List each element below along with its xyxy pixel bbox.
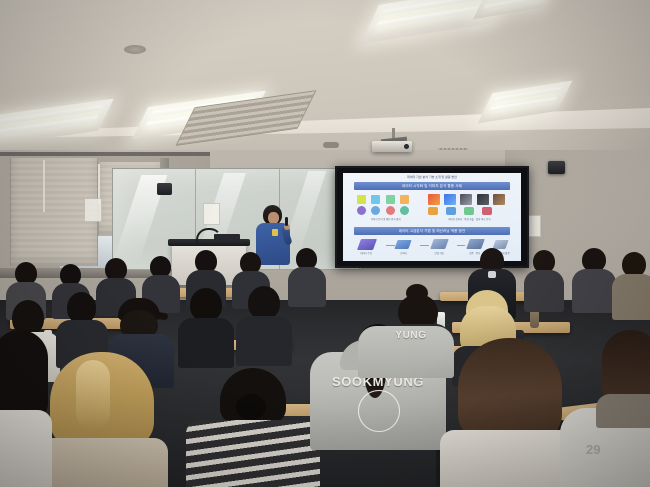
shoulders — [186, 420, 320, 487]
ceiling-projector — [372, 141, 412, 152]
hair-dark — [602, 330, 650, 402]
slide-thumb-8 — [464, 207, 474, 215]
slide-icon-3 — [386, 195, 395, 204]
slide-icon-1 — [357, 195, 366, 204]
slide-icon-6 — [371, 206, 380, 215]
slide-flow-label-3: 모델 학습 — [425, 252, 453, 255]
hair-bun — [236, 394, 266, 420]
hoodie-partial-text: YUNG — [376, 330, 446, 341]
attendee-row2-b — [236, 286, 292, 362]
shoulders — [36, 438, 168, 487]
projector-lens-icon — [404, 144, 409, 149]
wall-speaker-left — [157, 183, 172, 195]
slide-deck-title: 데이터 기반 분석 기술 소개 및 활용 방안 — [350, 174, 514, 180]
wall-notice-2 — [203, 203, 220, 225]
attendee-row3-g — [524, 250, 564, 310]
slide-flow-arrow-1 — [386, 245, 395, 246]
slide-thumb-1 — [428, 194, 440, 205]
handheld-microphone-icon — [285, 217, 288, 226]
attendee-gray-right — [440, 338, 580, 487]
shoulders — [572, 269, 616, 313]
slide-caption-left: 이미지 분석 및 패턴 인식 결과 — [354, 218, 418, 221]
gooseneck-microphone-icon — [196, 228, 222, 244]
slide-flow-label-2: 전처리 — [389, 252, 417, 255]
shoulders — [178, 318, 234, 368]
attendee-row3-h — [572, 248, 616, 312]
slide-icon-2 — [371, 195, 380, 204]
slide-caption-right: 데이터 전처리 · 특징 추출 · 결과 비교 분석 — [428, 218, 510, 221]
attendee-left-edge — [0, 330, 52, 487]
slide-flow-shape-2 — [395, 240, 412, 249]
shoulders — [0, 410, 52, 487]
shoulders — [524, 270, 564, 312]
shoulders — [236, 316, 292, 366]
slide-thumb-7 — [446, 207, 456, 215]
slide-flow-shape-1 — [357, 239, 377, 250]
slide-flow-arrow-3 — [457, 245, 465, 246]
slide-section-header-2: 데이터 고급분석 기법 및 머신러닝 적용 방안 — [354, 227, 511, 235]
shoulders — [288, 267, 326, 307]
slide-section-header-1: 데이터 시각화 및 이미지 분석 활용 사례 — [354, 182, 511, 190]
wall-speaker-right — [548, 161, 565, 174]
hair-long-brown — [458, 338, 562, 442]
attendee-row3-f — [288, 248, 326, 306]
ceiling-speaker-icon — [323, 142, 339, 148]
shoulders — [440, 430, 580, 487]
wall-top-trim — [0, 152, 210, 156]
head — [248, 286, 280, 320]
lanyard-badge-icon — [272, 229, 278, 236]
slide-icon-7 — [386, 206, 395, 215]
slide-flow-arrow-2 — [420, 245, 429, 246]
attendee-center-dark — [178, 288, 234, 364]
slide-thumb-5 — [493, 194, 505, 205]
slide-flow-shape-3 — [430, 239, 449, 249]
slide-thumb-2 — [444, 194, 456, 205]
shirt-collar — [488, 271, 496, 278]
lecture-hall-photo: 데이터 기반 분석 기술 소개 및 활용 방안 데이터 시각화 및 이미지 분석… — [0, 0, 650, 487]
blind-cord-1 — [43, 160, 45, 212]
hair-highlight — [76, 360, 110, 430]
shoulders — [612, 274, 650, 320]
slide-flow-label-1: 데이터 수집 — [352, 252, 380, 255]
slide-thumb-3 — [460, 194, 472, 205]
attendee-row3-i — [612, 252, 650, 318]
hair-dark — [0, 330, 48, 418]
attendee-right-edge-front — [596, 330, 650, 420]
slide-icon-5 — [357, 206, 366, 215]
smoke-detector-icon — [124, 45, 146, 54]
jacket-number: 29 — [586, 442, 600, 457]
head — [190, 288, 222, 322]
shoulders — [596, 394, 650, 428]
slide-thumb-4 — [477, 194, 489, 205]
attendee-blonde-front — [36, 352, 168, 487]
wall-notice-1 — [84, 198, 102, 222]
slide-icon-4 — [400, 195, 409, 204]
slide-thumb-6 — [428, 207, 438, 215]
slide-icon-8 — [400, 206, 409, 215]
attendee-striped-front — [186, 368, 320, 487]
slide-thumb-9 — [482, 207, 492, 215]
